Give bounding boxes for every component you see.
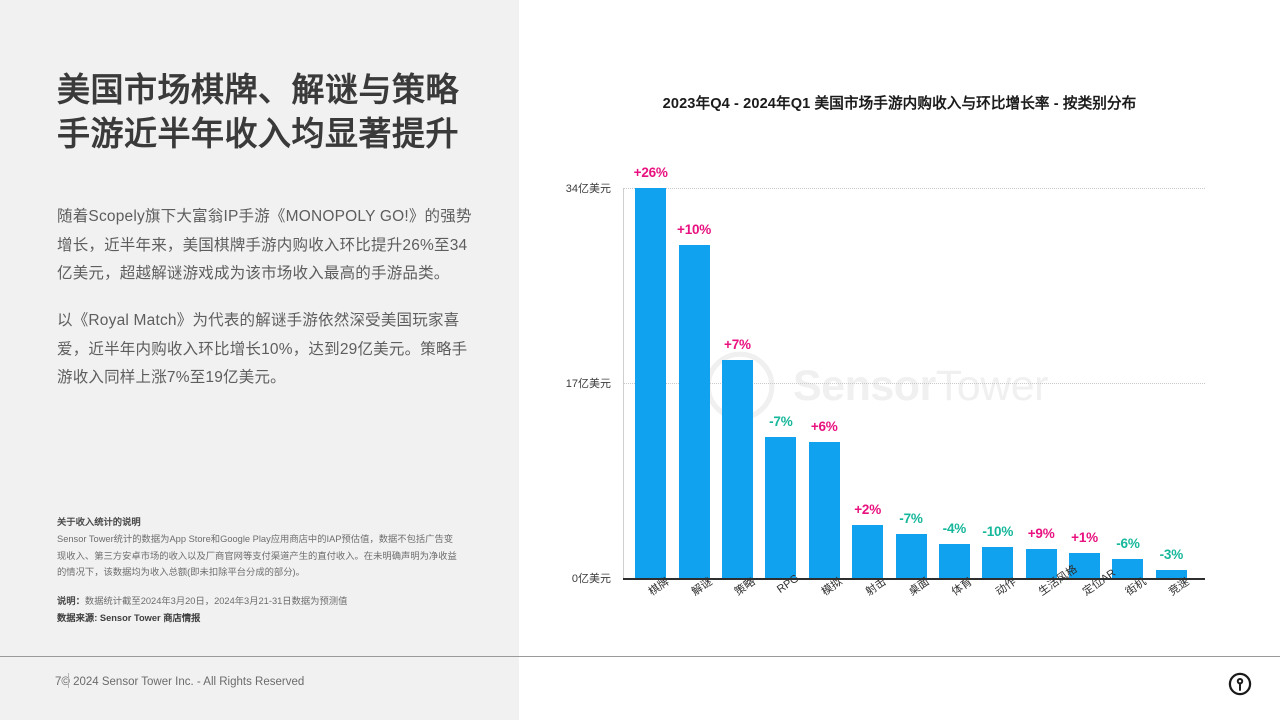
growth-rate-label: +7% <box>724 337 751 352</box>
paragraph-2: 以《Royal Match》为代表的解谜手游依然深受美国玩家喜爱，近半年内购收入… <box>57 307 477 393</box>
footnote-note-label: 说明： <box>57 596 85 606</box>
bar-column[interactable]: -4% <box>939 188 970 578</box>
growth-rate-label: +26% <box>634 165 668 180</box>
footer-divider <box>0 656 1280 657</box>
page-title: 美国市场棋牌、解谜与策略 手游近半年收入均显著提升 <box>57 68 487 155</box>
bar-column[interactable]: -7% <box>765 188 796 578</box>
growth-rate-label: +6% <box>811 419 838 434</box>
growth-rate-label: +9% <box>1028 526 1055 541</box>
y-axis-tick-label: 0亿美元 <box>572 570 611 586</box>
sensor-tower-logo <box>1226 670 1254 698</box>
bar-column[interactable]: -3% <box>1156 188 1187 578</box>
growth-rate-label: -7% <box>769 414 792 429</box>
growth-rate-label: -10% <box>982 524 1013 539</box>
bar[interactable] <box>765 437 796 578</box>
footnote-block: 关于收入统计的说明 Sensor Tower统计的数据为App Store和Go… <box>57 514 462 627</box>
bar-column[interactable]: +2% <box>852 188 883 578</box>
footer-separator <box>68 673 69 688</box>
y-axis-tick-label: 34亿美元 <box>566 180 611 196</box>
copyright-text: © 2024 Sensor Tower Inc. - All Rights Re… <box>61 676 304 688</box>
growth-rate-label: -3% <box>1160 547 1183 562</box>
chart-panel: 2023年Q4 - 2024年Q1 美国市场手游内购收入与环比增长率 - 按类别… <box>519 0 1280 656</box>
sensor-tower-logo-icon <box>1226 670 1254 698</box>
footnote-body: Sensor Tower统计的数据为App Store和Google Play应… <box>57 531 462 580</box>
slide-footer: 7 © 2024 Sensor Tower Inc. - All Rights … <box>55 676 304 688</box>
bar-column[interactable]: -6% <box>1112 188 1143 578</box>
slide-root: 美国市场棋牌、解谜与策略 手游近半年收入均显著提升 随着Scopely旗下大富翁… <box>0 0 1280 720</box>
paragraph-1: 随着Scopely旗下大富翁IP手游《MONOPOLY GO!》的强势增长，近半… <box>57 203 477 289</box>
bar-column[interactable]: +7% <box>722 188 753 578</box>
plot-area: 34亿美元17亿美元0亿美元 +26%+10%+7%-7%+6%+2%-7%-4… <box>623 188 1205 578</box>
bar-column[interactable]: -7% <box>896 188 927 578</box>
bar[interactable] <box>809 442 840 579</box>
footnote-note-text: 数据统计截至2024年3月20日，2024年3月21-31日数据为预测值 <box>85 596 347 606</box>
growth-rate-label: -7% <box>899 511 922 526</box>
body-copy: 随着Scopely旗下大富翁IP手游《MONOPOLY GO!》的强势增长，近半… <box>57 203 477 393</box>
bar-column[interactable]: +6% <box>809 188 840 578</box>
left-text-panel: 美国市场棋牌、解谜与策略 手游近半年收入均显著提升 随着Scopely旗下大富翁… <box>0 0 519 720</box>
y-axis-tick-label: 17亿美元 <box>566 375 611 391</box>
bar-column[interactable]: -10% <box>982 188 1013 578</box>
growth-rate-label: -6% <box>1116 536 1139 551</box>
growth-rate-label: +10% <box>677 222 711 237</box>
bar-column[interactable]: +1% <box>1069 188 1100 578</box>
bar-column[interactable]: +9% <box>1026 188 1057 578</box>
bar-column[interactable]: +26% <box>635 188 666 578</box>
bar[interactable] <box>635 188 666 578</box>
growth-rate-label: -4% <box>943 521 966 536</box>
growth-rate-label: +1% <box>1071 530 1098 545</box>
footnote-heading: 关于收入统计的说明 <box>57 514 462 530</box>
chart-title: 2023年Q4 - 2024年Q1 美国市场手游内购收入与环比增长率 - 按类别… <box>519 92 1280 113</box>
growth-rate-label: +2% <box>854 502 881 517</box>
bar[interactable] <box>679 245 710 578</box>
footnote-note: 说明：数据统计截至2024年3月20日，2024年3月21-31日数据为预测值 <box>57 593 462 609</box>
footnote-source: 数据来源: Sensor Tower 商店情报 <box>57 610 462 626</box>
bar[interactable] <box>896 534 927 578</box>
bar[interactable] <box>722 360 753 578</box>
bar-column[interactable]: +10% <box>679 188 710 578</box>
bar[interactable] <box>852 525 883 578</box>
